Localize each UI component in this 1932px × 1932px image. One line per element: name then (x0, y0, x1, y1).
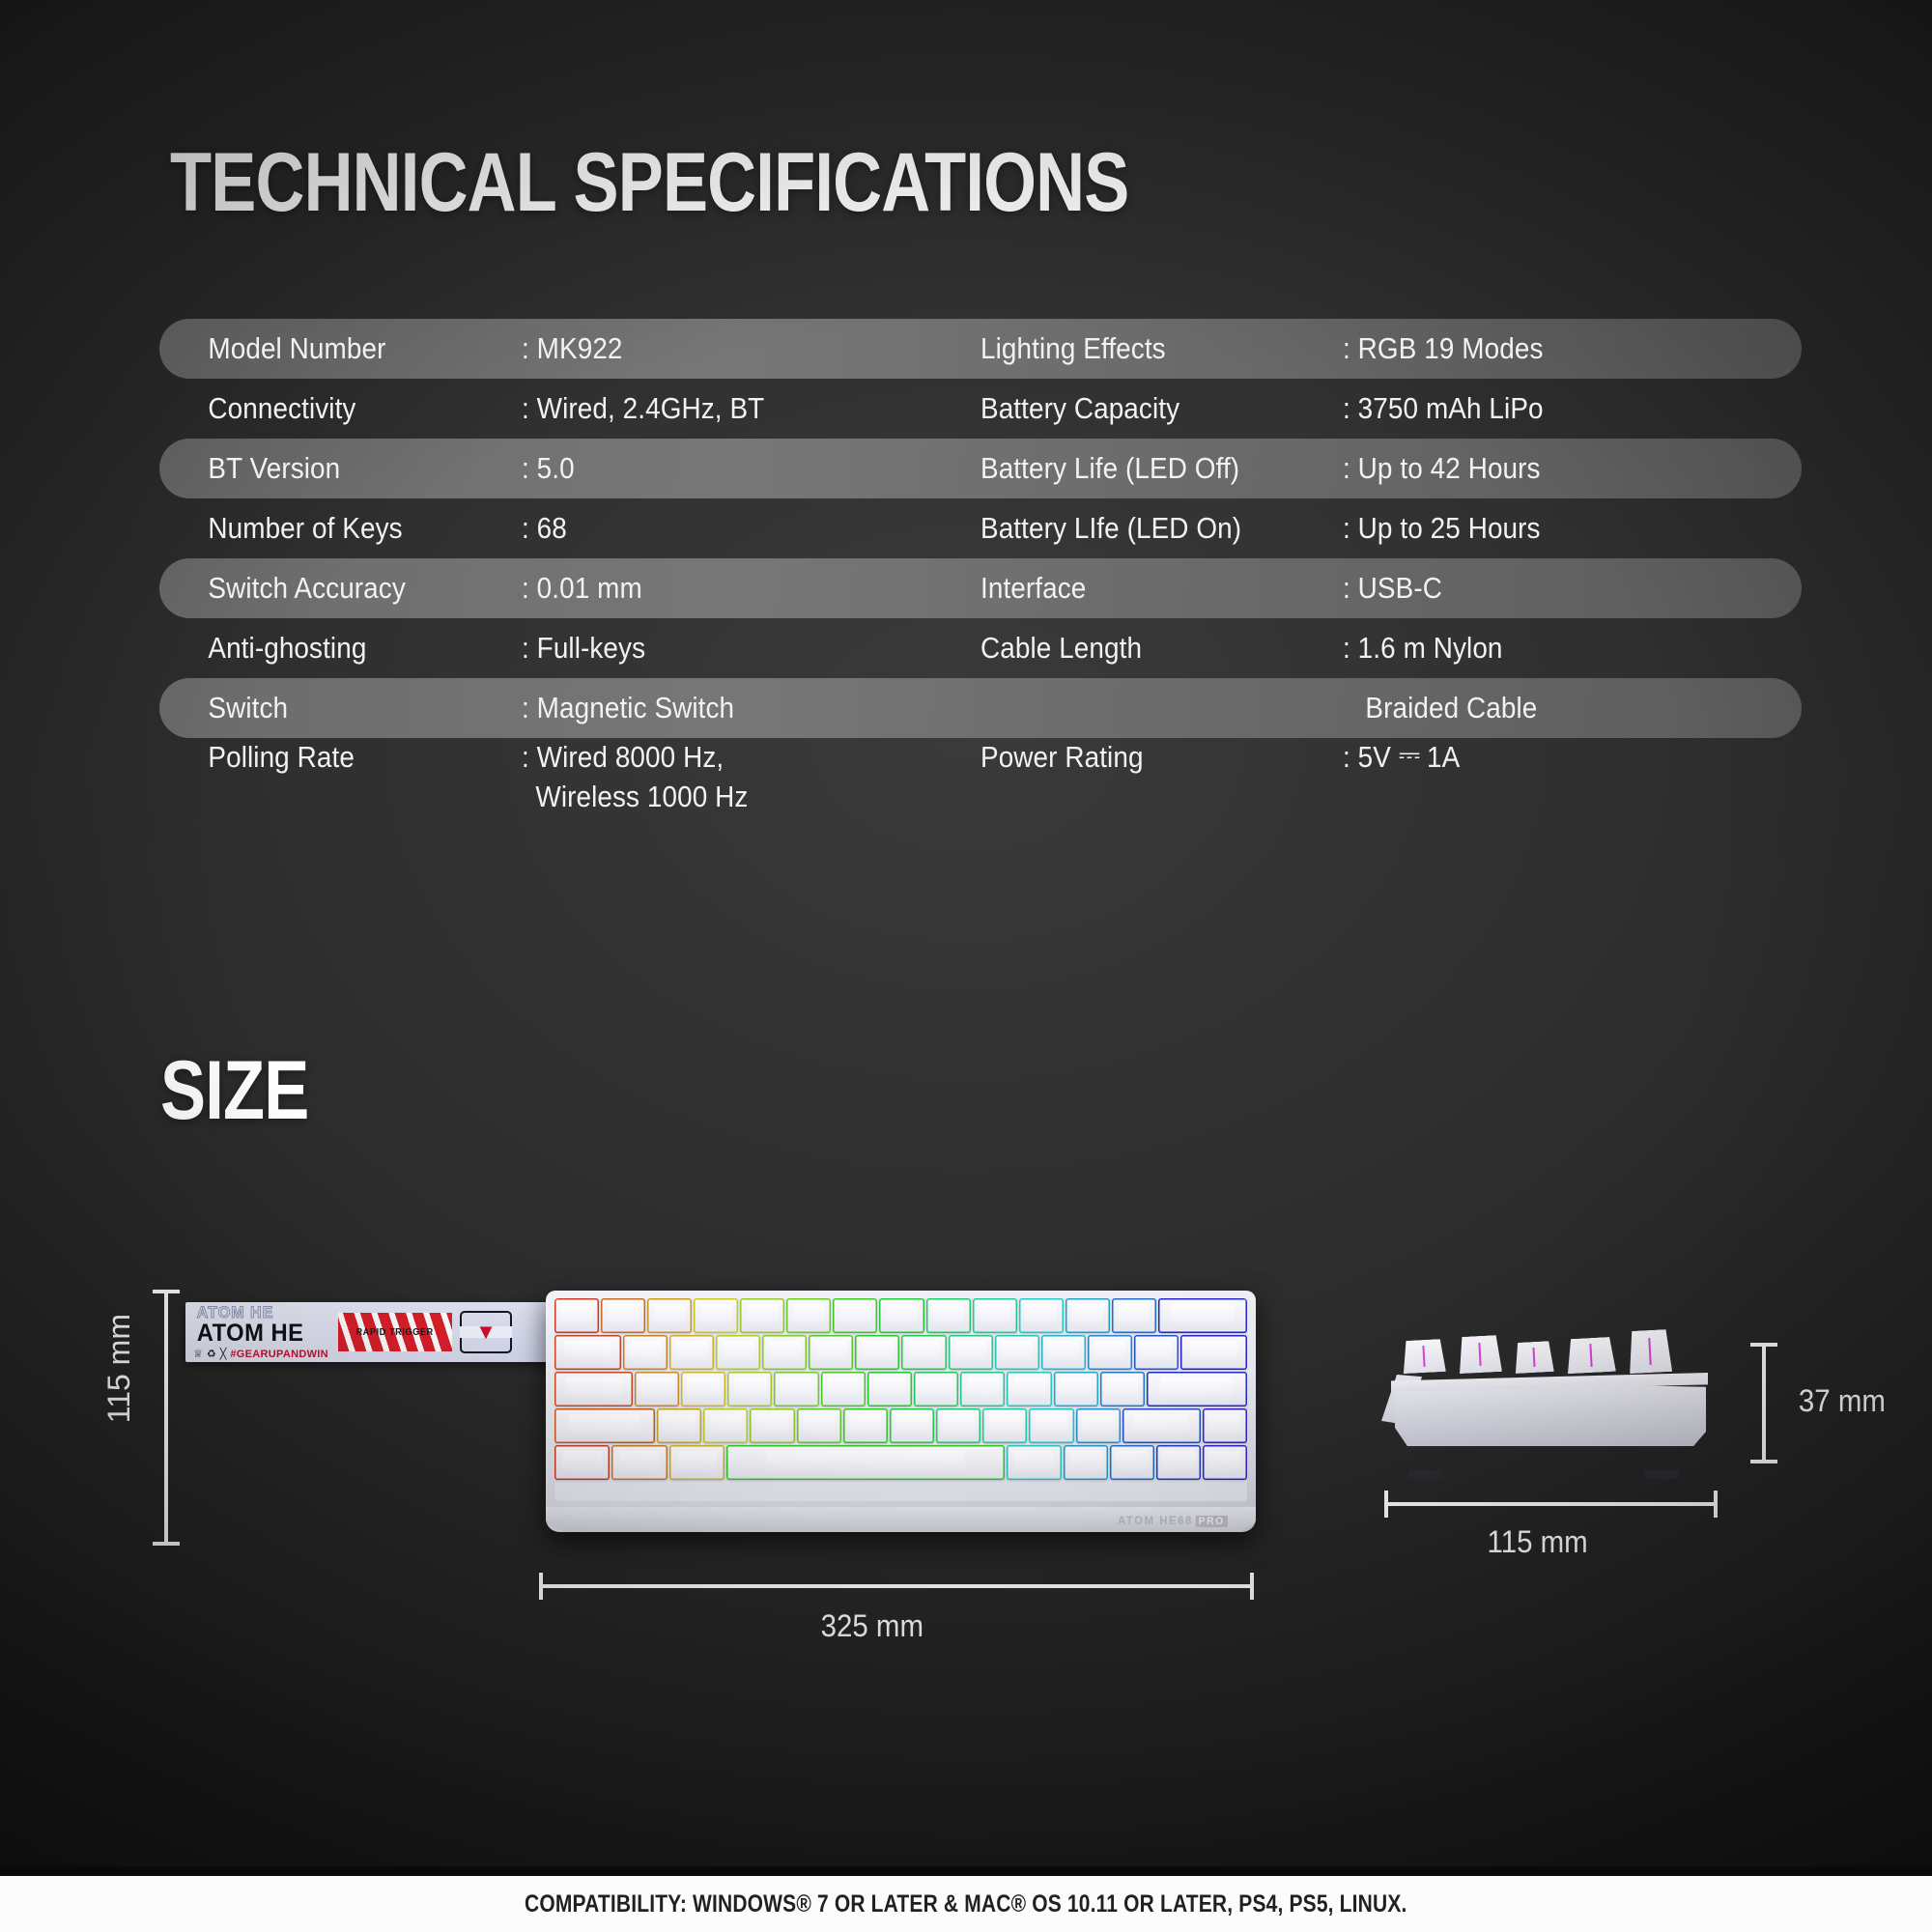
side-width-dimension-label: 115 mm (1488, 1524, 1588, 1560)
rubber-foot (1408, 1470, 1443, 1479)
keycap-plate (554, 1298, 1247, 1501)
table-row: Anti-ghosting : Full-keys Cable Length :… (159, 618, 1802, 678)
rgb-light-strip (1589, 1344, 1592, 1366)
side-keycap (1514, 1341, 1554, 1374)
spec-label: Anti-ghosting (159, 629, 486, 668)
spec-value: : Wired 8000 Hz, Wireless 1000 Hz (522, 738, 935, 817)
spec-value: : 3750 mAh LiPo (1343, 389, 1708, 429)
keycap (1019, 1298, 1064, 1333)
spec-value: : USB-C (1343, 569, 1708, 609)
power-prefix: : 5V (1343, 740, 1399, 774)
keycap (797, 1408, 841, 1443)
spec-label: Switch Accuracy (159, 569, 486, 609)
side-keycap (1402, 1339, 1446, 1374)
table-row: Polling Rate : Wired 8000 Hz, Wireless 1… (159, 738, 1802, 844)
spec-label (980, 689, 1307, 728)
spec-value: : 5.0 (522, 449, 935, 489)
dimension-cap (153, 1290, 180, 1293)
rgb-light-strip (1478, 1343, 1481, 1366)
side-height-dimension-line (1762, 1343, 1766, 1463)
dimension-cap (153, 1542, 180, 1546)
spec-value: : Up to 42 Hours (1343, 449, 1708, 489)
tag-subline: ♕ ♻ ╳ #GEARUPANDWIN (193, 1349, 338, 1360)
keycap (669, 1335, 714, 1370)
no-waste-icon: ╳ (220, 1350, 227, 1360)
side-height-dimension-label: 37 mm (1799, 1383, 1886, 1419)
keycap (1076, 1408, 1121, 1443)
spec-label: Battery Life (LED Off) (980, 449, 1307, 489)
height-dimension-line (164, 1290, 168, 1546)
keycap (774, 1372, 818, 1406)
keycap (623, 1335, 668, 1370)
compatibility-footer: COMPATIBILITY: WINDOWS® 7 OR LATER & MAC… (0, 1876, 1932, 1932)
keycap (1088, 1335, 1132, 1370)
keycap (833, 1298, 877, 1333)
keycap (982, 1408, 1027, 1443)
keycap (936, 1408, 980, 1443)
tag-ghost-text: ATOM HE (197, 1304, 335, 1321)
keycap (554, 1335, 621, 1370)
power-suffix: 1A (1419, 740, 1460, 774)
keyboard-top-view: ATOM HE68PRO (546, 1291, 1256, 1532)
size-section-title: SIZE (160, 1043, 308, 1139)
keycap (1007, 1445, 1062, 1480)
side-keycap (1566, 1337, 1616, 1375)
keycap (1158, 1298, 1247, 1333)
keycap (1007, 1372, 1051, 1406)
keycap (1122, 1408, 1201, 1443)
keycap (879, 1298, 923, 1333)
keycap (1156, 1445, 1201, 1480)
keycap (995, 1335, 1039, 1370)
keycap (681, 1372, 725, 1406)
tag-branding: ATOM HE ATOM HE ♕ ♻ ╳ #GEARUPANDWIN (193, 1304, 338, 1360)
spec-value: : Wired, 2.4GHz, BT (522, 389, 935, 429)
spec-value: : Magnetic Switch (522, 689, 935, 728)
rapid-trigger-label: RAPID TRIGGER (356, 1327, 434, 1338)
keycap (1064, 1445, 1108, 1480)
keycap (1203, 1445, 1247, 1480)
dimension-cap (1750, 1460, 1777, 1463)
compatibility-text: COMPATIBILITY: WINDOWS® 7 OR LATER & MAC… (525, 1890, 1407, 1918)
keycap (740, 1298, 784, 1333)
keycap (647, 1298, 692, 1333)
keycap (855, 1335, 899, 1370)
dimension-cap (539, 1573, 543, 1600)
keycap (554, 1298, 599, 1333)
dimension-cap (1384, 1491, 1388, 1518)
keycap (635, 1372, 679, 1406)
keycap (657, 1408, 701, 1443)
table-row: Number of Keys : 68 Battery LIfe (LED On… (159, 498, 1802, 558)
logo-glyph: ▼ (475, 1321, 497, 1343)
keycap (750, 1408, 794, 1443)
keycap (1134, 1335, 1179, 1370)
spec-label: Battery LIfe (LED On) (980, 509, 1307, 549)
spec-value: : Full-keys (522, 629, 935, 668)
keycap (786, 1298, 831, 1333)
keycap (727, 1372, 772, 1406)
rgb-light-strip (1648, 1338, 1651, 1365)
spec-label: Interface (980, 569, 1307, 609)
footer-divider (0, 1866, 1932, 1876)
keycap (694, 1298, 738, 1333)
dimension-cap (1750, 1343, 1777, 1347)
keycap (1100, 1372, 1145, 1406)
spec-label: Polling Rate (159, 738, 486, 817)
keycap (867, 1372, 912, 1406)
recycle-icon: ♻ (207, 1350, 216, 1360)
keycap (726, 1445, 1004, 1480)
keycap (1180, 1335, 1247, 1370)
side-width-dimension-line (1384, 1502, 1718, 1506)
keycap (809, 1335, 853, 1370)
keycap (1054, 1372, 1098, 1406)
globe-icon: ♕ (193, 1350, 203, 1360)
table-row: BT Version : 5.0 Battery Life (LED Off) … (159, 439, 1802, 498)
keycap (901, 1335, 946, 1370)
keycap (1041, 1335, 1086, 1370)
spec-value: : MK922 (522, 329, 935, 369)
keycap (843, 1408, 888, 1443)
keyboard-side-view (1381, 1328, 1719, 1473)
spec-label: Model Number (159, 329, 486, 369)
table-row: Model Number : MK922 Lighting Effects : … (159, 319, 1802, 379)
vignette-overlay (0, 0, 1932, 1932)
keycap (554, 1445, 610, 1480)
polling-line-2: Wireless 1000 Hz (522, 778, 748, 817)
height-dimension-label: 115 mm (101, 1314, 137, 1423)
keycap (1029, 1408, 1073, 1443)
rapid-trigger-badge: RAPID TRIGGER (338, 1313, 452, 1351)
spec-label: Connectivity (159, 389, 486, 429)
table-row: Switch Accuracy : 0.01 mm Interface : US… (159, 558, 1802, 618)
keycap (960, 1372, 1005, 1406)
spec-value: : Up to 25 Hours (1343, 509, 1708, 549)
spec-label: Number of Keys (159, 509, 486, 549)
keycap (1065, 1298, 1110, 1333)
keycap (890, 1408, 934, 1443)
page-title: TECHNICAL SPECIFICATIONS (170, 135, 1128, 231)
dc-current-icon: ⎓ (1399, 735, 1419, 775)
keycap (1110, 1445, 1154, 1480)
rubber-foot (1644, 1470, 1679, 1479)
dimension-cap (1714, 1491, 1718, 1518)
keycap (554, 1408, 655, 1443)
table-row: Connectivity : Wired, 2.4GHz, BT Battery… (159, 379, 1802, 439)
polling-line-1: : Wired 8000 Hz, (522, 740, 724, 774)
side-keycap (1458, 1335, 1502, 1374)
keycap (1147, 1372, 1247, 1406)
table-row: Switch : Magnetic Switch Braided Cable (159, 678, 1802, 738)
keycap (914, 1372, 958, 1406)
width-dimension-label: 325 mm (821, 1608, 923, 1644)
spec-label: Switch (159, 689, 486, 728)
brand-logo-icon: ▼ (460, 1311, 512, 1353)
keycap (926, 1298, 971, 1333)
keycap (611, 1445, 667, 1480)
spec-label: Power Rating (980, 738, 1307, 817)
spec-value: : 1.6 m Nylon (1343, 629, 1708, 668)
keycap (949, 1335, 993, 1370)
spec-value: : 0.01 mm (522, 569, 935, 609)
brand-badge: PRO (1196, 1516, 1228, 1527)
spec-table: Model Number : MK922 Lighting Effects : … (159, 319, 1802, 844)
spec-value: : RGB 19 Modes (1343, 329, 1708, 369)
keycap (669, 1445, 724, 1480)
tag-main-text: ATOM HE (197, 1321, 335, 1346)
spec-value: : 68 (522, 509, 935, 549)
hang-tag: ATOM HE ATOM HE ♕ ♻ ╳ #GEARUPANDWIN RAPI… (185, 1302, 562, 1362)
keycap (554, 1372, 633, 1406)
dimension-cap (1250, 1573, 1254, 1600)
poster-root: TECHNICAL SPECIFICATIONS Model Number : … (0, 0, 1932, 1932)
keycap (601, 1298, 645, 1333)
rgb-light-strip (1422, 1346, 1425, 1367)
keycap (762, 1335, 807, 1370)
keycap (703, 1408, 748, 1443)
keycap (973, 1298, 1017, 1333)
tag-hashtag: #GEARUPANDWIN (230, 1349, 327, 1360)
keyboard-brand-label: ATOM HE68PRO (1118, 1514, 1228, 1527)
spec-label: Lighting Effects (980, 329, 1307, 369)
brand-text: ATOM HE68 (1118, 1514, 1193, 1527)
width-dimension-line (539, 1584, 1254, 1588)
keycap (821, 1372, 866, 1406)
keycap (1203, 1408, 1247, 1443)
keycap (716, 1335, 760, 1370)
spec-value-continuation: Braided Cable (1343, 689, 1708, 728)
keycap (1112, 1298, 1156, 1333)
side-keycap (1628, 1329, 1672, 1374)
spec-value: : 5V ⎓ 1A (1343, 738, 1708, 817)
spec-label: Cable Length (980, 629, 1307, 668)
spec-label: Battery Capacity (980, 389, 1307, 429)
spec-label: BT Version (159, 449, 486, 489)
rgb-light-strip (1532, 1348, 1535, 1368)
